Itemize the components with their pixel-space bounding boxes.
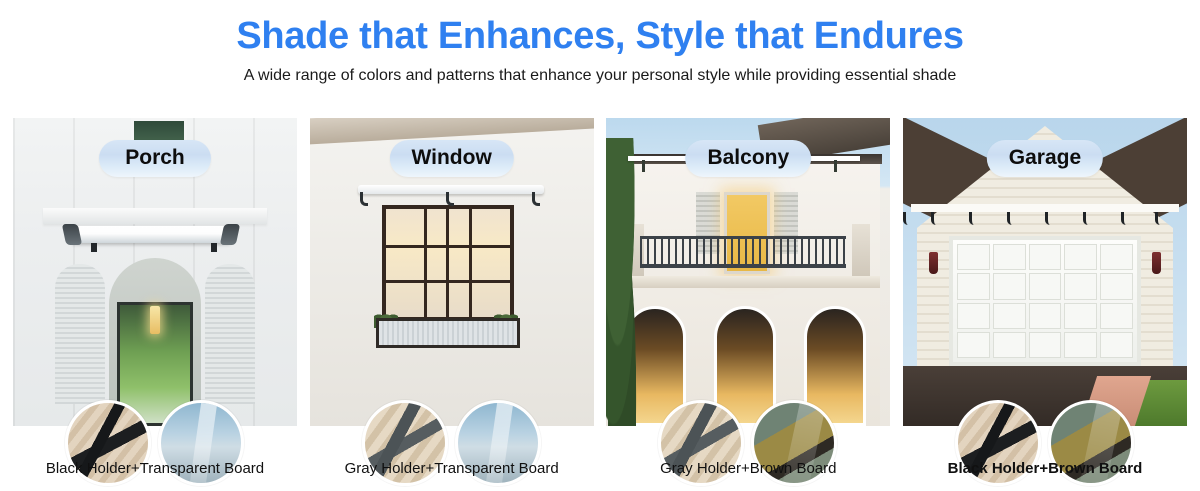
application-card-row: Porch Black Holder+Transparent Board — [0, 118, 1200, 478]
scene-photo-window: Window — [310, 118, 594, 426]
window-flower-box — [376, 318, 520, 348]
awning-bracket — [446, 192, 454, 206]
pendant-lamp-icon — [150, 306, 160, 334]
shutter-right — [205, 264, 255, 404]
awning-bracket — [1083, 212, 1088, 225]
awning-bracket — [1121, 212, 1126, 225]
page-title: Shade that Enhances, Style that Endures — [0, 14, 1200, 58]
awning-bracket — [1045, 212, 1050, 225]
application-card-garage[interactable]: Garage Black Holder+Brown Board — [903, 118, 1187, 478]
badge-porch[interactable]: Porch — [99, 140, 211, 177]
awning-bracket — [969, 212, 974, 225]
ground-arch — [804, 306, 866, 426]
wall-lantern-icon — [1152, 252, 1161, 274]
ground-arch — [714, 306, 776, 426]
badge-window[interactable]: Window — [390, 140, 514, 177]
balcony-post — [852, 224, 870, 278]
awning-bracket — [91, 243, 97, 252]
awning-bracket — [931, 212, 936, 225]
application-card-porch[interactable]: Porch Black Holder+Transparent Board — [13, 118, 297, 478]
application-card-balcony[interactable]: Balcony Gray Holder+Brown Board — [606, 118, 890, 478]
badge-garage[interactable]: Garage — [987, 140, 1103, 177]
wall-lintel — [43, 208, 267, 224]
awning-canopy — [71, 226, 231, 243]
balcony-ledge — [616, 276, 880, 288]
card-caption-garage: Black Holder+Brown Board — [903, 460, 1187, 478]
badge-balcony[interactable]: Balcony — [685, 140, 811, 177]
page-subtitle: A wide range of colors and patterns that… — [0, 66, 1200, 86]
awning-bracket — [211, 243, 217, 252]
scene-photo-garage: Garage — [903, 118, 1187, 426]
card-caption-porch: Black Holder+Transparent Board — [13, 460, 297, 478]
scene-photo-porch: Porch — [13, 118, 297, 426]
application-card-window[interactable]: Window Gray Holder+Transparent Board — [310, 118, 594, 478]
awning-bracket — [642, 160, 645, 172]
promo-banner: Shade that Enhances, Style that Endures … — [0, 0, 1200, 491]
awning-bracket — [360, 192, 368, 206]
tree-foliage — [606, 138, 644, 426]
wall-lantern-icon — [929, 252, 938, 274]
arched-doorway — [109, 258, 201, 426]
scene-photo-balcony: Balcony — [606, 118, 890, 426]
shutter-left — [55, 264, 105, 404]
awning-bracket — [903, 212, 908, 225]
balcony-railing — [640, 236, 846, 268]
banner-header: Shade that Enhances, Style that Endures … — [0, 0, 1200, 86]
garage-door — [949, 236, 1141, 366]
card-caption-balcony: Gray Holder+Brown Board — [606, 460, 890, 478]
awning-bracket — [1155, 212, 1160, 225]
awning-bracket — [1007, 212, 1012, 225]
awning-canopy — [911, 204, 1179, 212]
card-caption-window: Gray Holder+Transparent Board — [310, 460, 594, 478]
house-window — [382, 205, 514, 321]
awning-bracket — [532, 192, 540, 206]
awning-bracket — [834, 160, 837, 172]
